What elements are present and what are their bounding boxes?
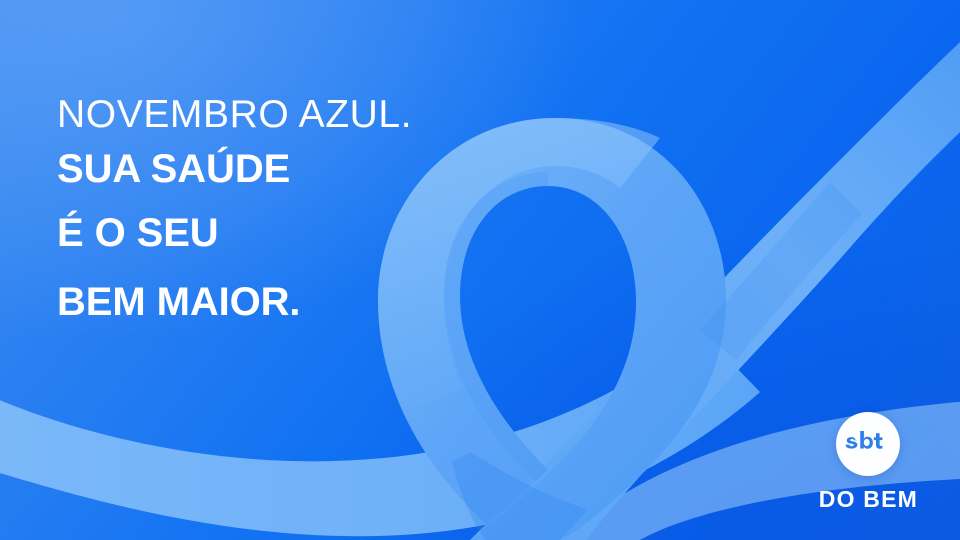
headline-block: NOVEMBRO AZUL. SUA SAÚDE É O SEU BEM MAI… <box>57 92 412 324</box>
ribbon-loop-highlight <box>378 118 660 412</box>
headline-line-2: É O SEU <box>57 211 412 255</box>
campaign-banner: NOVEMBRO AZUL. SUA SAÚDE É O SEU BEM MAI… <box>0 0 960 540</box>
brand-lockup: DO BEM <box>819 412 918 512</box>
headline-line-1: SUA SAÚDE <box>57 147 412 191</box>
headline-kicker: NOVEMBRO AZUL. <box>57 92 412 138</box>
headline-line-3: BEM MAIOR. <box>57 280 412 324</box>
ribbon-right-tail-shade <box>700 182 862 360</box>
brand-tagline: DO BEM <box>819 486 918 512</box>
sbt-logo-icon <box>836 412 900 476</box>
